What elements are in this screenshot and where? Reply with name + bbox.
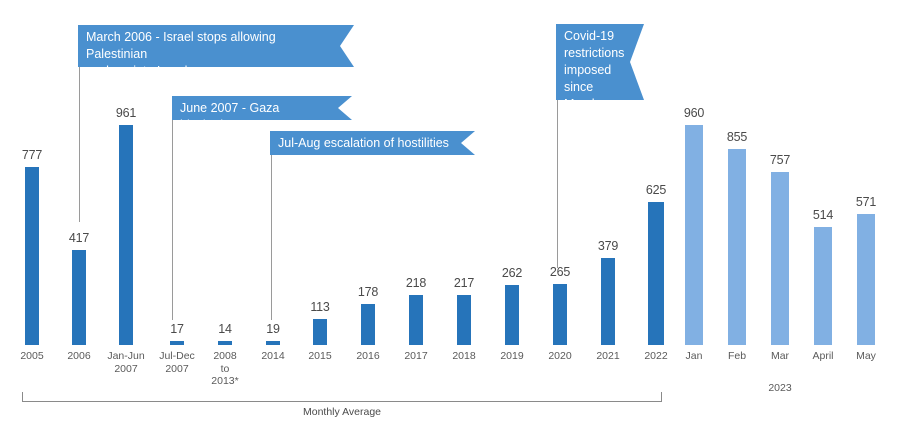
bar	[313, 319, 327, 345]
annotation-leader-line	[172, 120, 173, 320]
bar	[409, 295, 423, 345]
annotation-leader-line	[271, 155, 272, 320]
bar-value-label: 379	[578, 239, 638, 253]
bar-value-label: 417	[49, 231, 109, 245]
bar	[25, 167, 39, 345]
bar-value-label: 757	[750, 153, 810, 167]
annotation-callout: June 2007 - Gaza blockade	[172, 96, 352, 120]
annotation-callout: March 2006 - Israel stops allowing Pales…	[78, 25, 354, 67]
bar	[685, 125, 703, 345]
bar-value-label: 777	[2, 148, 62, 162]
annotation-callout: Jul-Aug escalation of hostilities	[270, 131, 475, 155]
bar	[601, 258, 615, 345]
chart-container: 77720054172006961Jan-Jun 200717Jul-Dec 2…	[0, 0, 900, 424]
monthly-average-label: Monthly Average	[22, 406, 662, 418]
bar	[728, 149, 746, 345]
bar	[361, 304, 375, 345]
bar	[771, 172, 789, 345]
bar-value-label: 265	[530, 265, 590, 279]
bar	[457, 295, 471, 345]
bar	[648, 202, 664, 345]
bar	[814, 227, 832, 345]
bar-value-label: 514	[793, 208, 853, 222]
bar-value-label: 961	[96, 106, 156, 120]
bar-value-label: 571	[836, 195, 896, 209]
bar-value-label: 19	[243, 322, 303, 336]
bar-value-label: 960	[664, 106, 724, 120]
category-label: May	[836, 350, 896, 363]
bar	[266, 341, 280, 345]
bar	[857, 214, 875, 345]
annotation-leader-line	[557, 100, 558, 268]
bar	[119, 125, 133, 345]
bar-value-label: 855	[707, 130, 767, 144]
bar-value-label: 625	[626, 183, 686, 197]
bar	[505, 285, 519, 345]
bar	[553, 284, 567, 345]
bar	[218, 341, 232, 345]
annotation-callout: Covid-19 restrictions imposed since Marc…	[556, 24, 644, 100]
bar	[72, 250, 86, 345]
bar	[170, 341, 184, 345]
group-label-2023: 2023	[745, 382, 815, 394]
bar-value-label: 113	[290, 300, 350, 314]
annotation-leader-line	[79, 67, 80, 222]
monthly-average-bracket	[22, 392, 662, 402]
